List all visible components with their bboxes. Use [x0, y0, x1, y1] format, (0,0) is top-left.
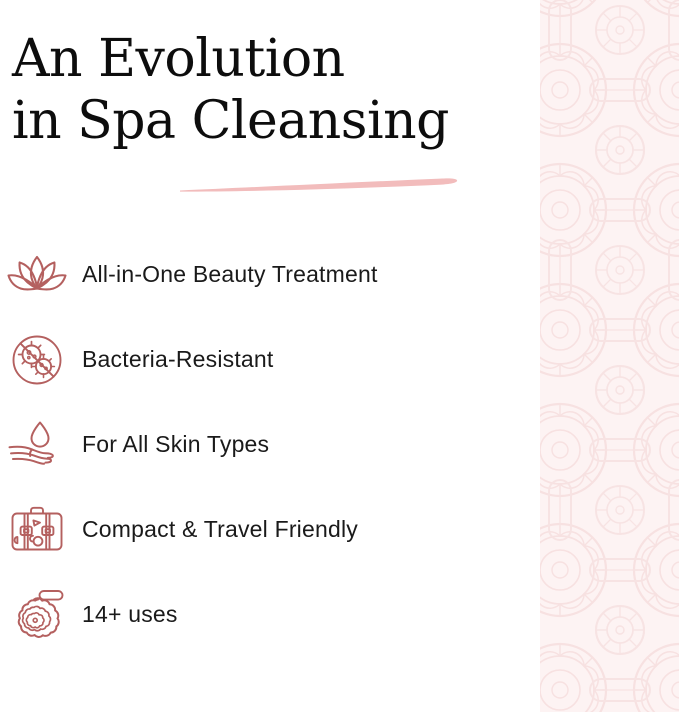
no-bacteria-icon	[0, 329, 70, 391]
mandala-pattern-icon	[540, 0, 679, 712]
cleansing-pad-flower-icon	[0, 584, 70, 646]
lotus-flower-icon	[0, 244, 70, 306]
list-item: All-in-One Beauty Treatment	[0, 232, 500, 317]
feature-label: 14+ uses	[70, 601, 178, 628]
list-item: 14+ uses	[0, 572, 500, 657]
hand-with-droplet-icon	[0, 414, 70, 476]
travel-suitcase-icon	[0, 499, 70, 561]
headline-line-1: An Evolution	[12, 28, 482, 90]
list-item: For All Skin Types	[0, 402, 500, 487]
feature-list: All-in-One Beauty Treatment	[0, 232, 500, 657]
list-item: Compact & Travel Friendly	[0, 487, 500, 572]
list-item: Bacteria-Resistant	[0, 317, 500, 402]
brush-underline-icon	[178, 172, 458, 194]
promo-graphic: An Evolution in Spa Cleansing All-in-One…	[0, 0, 679, 712]
feature-label: Compact & Travel Friendly	[70, 516, 358, 543]
feature-label: All-in-One Beauty Treatment	[70, 261, 378, 288]
feature-label: Bacteria-Resistant	[70, 346, 274, 373]
page-title: An Evolution in Spa Cleansing	[12, 28, 482, 152]
feature-label: For All Skin Types	[70, 431, 269, 458]
ornamental-mandala-panel	[540, 0, 679, 712]
headline-line-2: in Spa Cleansing	[12, 90, 482, 152]
